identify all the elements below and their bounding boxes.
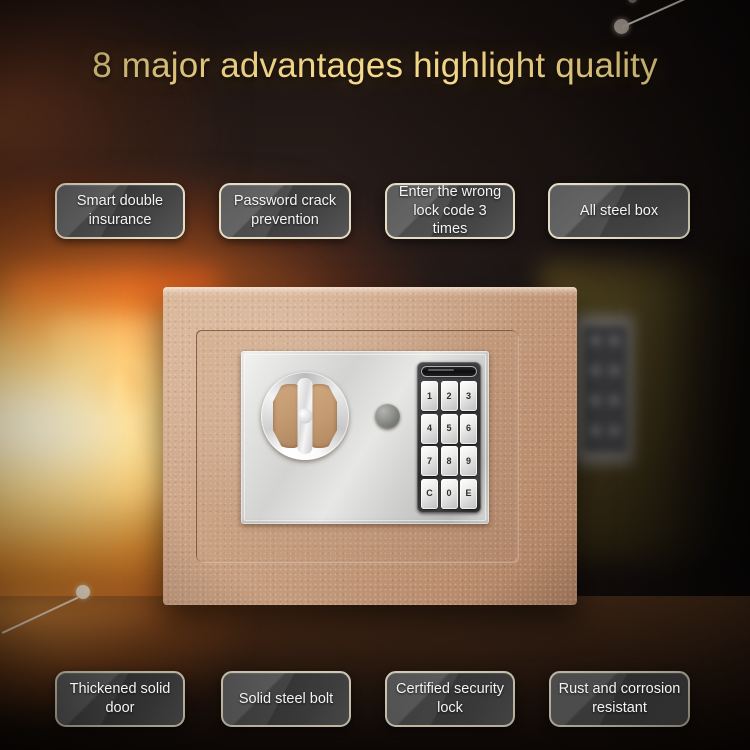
keypad-key-1[interactable]: 1: [421, 381, 438, 411]
advantage-badge-label: All steel box: [580, 202, 658, 221]
dial-center-hub: [298, 409, 313, 424]
advantage-badge-label: Rust and corrosion resistant: [558, 680, 681, 717]
keypad-key-4[interactable]: 4: [421, 414, 438, 444]
advantage-badge-label: Password crack prevention: [228, 192, 342, 229]
advantage-badge-label: Enter the wrong lock code 3 times: [394, 183, 506, 239]
keypad-key-3[interactable]: 3: [460, 381, 477, 411]
keypad-key-5[interactable]: 5: [441, 414, 458, 444]
keypad-key-2[interactable]: 2: [441, 381, 458, 411]
keypad-key-9[interactable]: 9: [460, 446, 477, 476]
advantage-badge-certified-security-lock[interactable]: Certified security lock: [385, 671, 515, 727]
safe-push-button[interactable]: [375, 404, 400, 429]
page-title: 8 major advantages highlight quality: [0, 46, 750, 86]
safe-faceplate: 123456789C0E: [241, 351, 489, 524]
product-safe-box: 123456789C0E: [163, 287, 577, 605]
safe-door-panel: 123456789C0E: [197, 331, 517, 561]
keypad-key-6[interactable]: 6: [460, 414, 477, 444]
keypad-key-8[interactable]: 8: [441, 446, 458, 476]
safe-keypad: 123456789C0E: [417, 362, 481, 513]
advantage-badge-smart-double-insurance[interactable]: Smart double insurance: [55, 183, 185, 239]
product-marketing-image: 8 major advantages highlight quality Sma…: [0, 0, 750, 750]
advantage-badge-all-steel-box[interactable]: All steel box: [548, 183, 690, 239]
safe-lock-dial[interactable]: [261, 372, 349, 460]
dial-cutout-right: [311, 384, 337, 448]
advantage-badge-label: Smart double insurance: [64, 192, 176, 229]
keypad-lcd-display: [421, 366, 477, 377]
keypad-key-0[interactable]: 0: [441, 479, 458, 509]
advantage-badge-label: Solid steel bolt: [239, 690, 333, 709]
dial-cutout-left: [273, 384, 299, 448]
advantage-badge-rust-and-corrosion-resistant[interactable]: Rust and corrosion resistant: [549, 671, 690, 727]
advantage-badge-label: Certified security lock: [394, 680, 506, 717]
advantage-badge-wrong-lock-code-3-times[interactable]: Enter the wrong lock code 3 times: [385, 183, 515, 239]
safe-top-edge-highlight: [163, 287, 577, 296]
advantage-badge-label: Thickened solid door: [64, 680, 176, 717]
keypad-key-c[interactable]: C: [421, 479, 438, 509]
keypad-key-7[interactable]: 7: [421, 446, 438, 476]
advantage-badge-solid-steel-bolt[interactable]: Solid steel bolt: [221, 671, 351, 727]
keypad-key-e[interactable]: E: [460, 479, 477, 509]
keypad-key-grid: 123456789C0E: [421, 381, 477, 509]
advantage-badge-password-crack-prevention[interactable]: Password crack prevention: [219, 183, 351, 239]
advantage-badge-thickened-solid-door[interactable]: Thickened solid door: [55, 671, 185, 727]
